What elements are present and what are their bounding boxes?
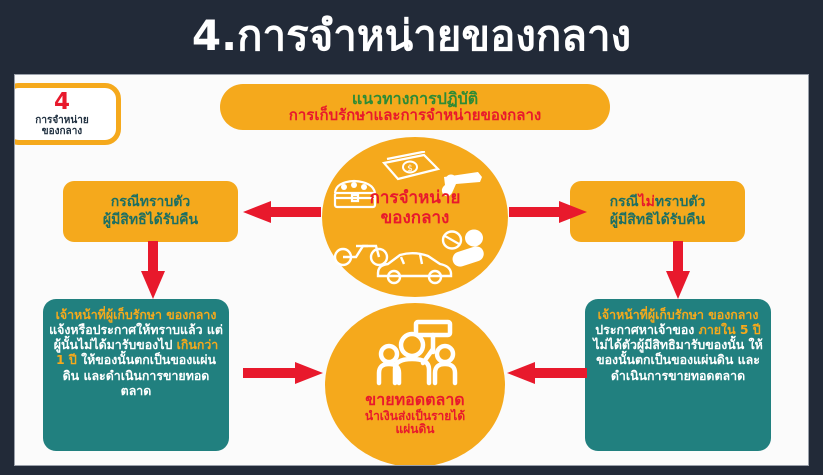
auction-result-circle: ขายทอดตลาด นำเงินส่งเป็นรายได้ แผ่นดิน <box>325 303 505 466</box>
left-detail-seg1: เจ้าหน้าที่ผู้เก็บรักษา ของกลาง <box>56 307 217 322</box>
section-number-badge: 4 การจำหน่าย ของกลาง <box>14 83 121 145</box>
badge-label-line1: การจำหน่าย <box>35 115 88 126</box>
badge-number: 4 <box>54 92 70 114</box>
right-case-suffix: ทราบตัว <box>655 194 705 210</box>
center-circle-label: การจำหน่าย ของกลาง <box>322 189 508 228</box>
svg-text:$: $ <box>407 164 413 174</box>
center-circle-line1: การจำหน่าย <box>370 188 461 208</box>
left-case-line2: ผู้มีสิทธิได้รับคืน <box>103 212 198 230</box>
arrow-head <box>666 271 690 299</box>
banknote-icon: $ <box>378 151 444 185</box>
arrow-head <box>559 201 587 223</box>
right-case-negation: ไม่ <box>639 194 655 210</box>
center-topic-circle: $ <box>322 137 508 297</box>
header-subtitle: การเก็บรักษาและการจำหน่ายของกลาง <box>289 107 541 124</box>
right-detail-box: เจ้าหน้าที่ผู้เก็บรักษา ของกลาง ประกาศหา… <box>585 299 771 451</box>
right-case-prefix: กรณี <box>610 194 639 210</box>
left-case-box: กรณีทราบตัว ผู้มีสิทธิได้รับคืน <box>63 181 238 242</box>
auction-people-icon <box>371 319 463 391</box>
badge-label: การจำหน่าย ของกลาง <box>35 115 88 138</box>
right-case-box: กรณีไม่ทราบตัว ผู้มีสิทธิได้รับคืน <box>570 181 745 242</box>
arrow-head <box>141 271 165 299</box>
arrow-right-box-down <box>666 241 690 299</box>
left-detail-seg4: ให้ของนั้นตกเป็นของแผ่นดิน และดำเนินการข… <box>63 352 216 397</box>
left-case-line1: กรณีทราบตัว <box>111 194 190 212</box>
infographic-canvas: 4 การจำหน่าย ของกลาง แนวทางการปฏิบัติ กา… <box>14 74 809 466</box>
auction-result-label: ขายทอดตลาด นำเงินส่งเป็นรายได้ แผ่นดิน <box>325 391 505 437</box>
arrow-left-detail-to-auction <box>243 362 323 384</box>
arrow-shaft <box>148 241 158 273</box>
arrow-shaft <box>243 368 297 378</box>
pills-icon <box>438 227 492 271</box>
right-detail-seg1: เจ้าหน้าที่ผู้เก็บรักษา ของกลาง <box>598 307 759 322</box>
right-case-line2: ผู้มีสิทธิได้รับคืน <box>610 212 705 230</box>
auction-line3: แผ่นดิน <box>325 423 505 437</box>
slide-title: 4.การจำหน่ายของกลาง <box>0 0 823 72</box>
motorcycle-icon <box>332 233 392 269</box>
arrow-center-to-left <box>243 201 321 223</box>
arrow-head <box>243 201 271 223</box>
car-icon <box>374 249 456 287</box>
left-detail-box: เจ้าหน้าที่ผู้เก็บรักษา ของกลาง แจ้งหรือ… <box>43 299 229 451</box>
arrow-shaft <box>269 207 321 217</box>
arrow-head <box>507 362 535 384</box>
header-pill: แนวทางการปฏิบัติ การเก็บรักษาและการจำหน่… <box>220 84 610 130</box>
badge-label-line2: ของกลาง <box>42 126 82 137</box>
arrow-right-detail-to-auction <box>507 362 587 384</box>
arrow-head <box>295 362 323 384</box>
arrow-left-box-down <box>141 241 165 299</box>
auction-line2: นำเงินส่งเป็นรายได้ <box>325 410 505 424</box>
right-detail-seg3: ภายใน 5 ปี <box>699 322 761 337</box>
right-case-line1: กรณีไม่ทราบตัว <box>610 194 706 212</box>
right-detail-seg4: ไม่ได้ตัวผู้มีสิทธิมารับของนั้น ให้ของนั… <box>593 337 762 382</box>
auction-line1: ขายทอดตลาด <box>325 391 505 410</box>
arrow-shaft <box>535 368 587 378</box>
arrow-shaft <box>673 241 683 273</box>
arrow-center-to-right <box>509 201 587 223</box>
center-circle-line2: ของกลาง <box>381 208 450 228</box>
right-detail-seg2: ประกาศหาเจ้าของ <box>595 322 698 337</box>
arrow-shaft <box>509 207 561 217</box>
